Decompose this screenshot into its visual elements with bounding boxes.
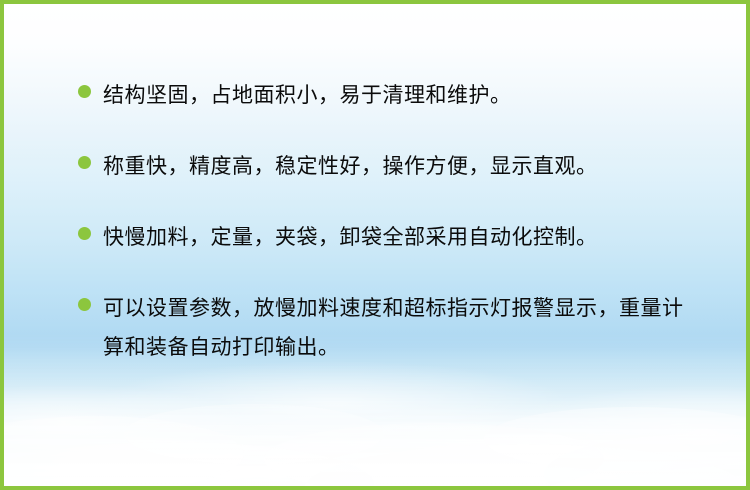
list-item: 可以设置参数，放慢加料速度和超标指示灯报警显示，重量计算和装备自动打印输出。 — [78, 289, 718, 367]
bullet-dot-icon — [78, 298, 91, 311]
slide-container: 结构坚固，占地面积小，易于清理和维护。 称重快，精度高，稳定性好，操作方便，显示… — [0, 0, 750, 490]
bullet-dot-icon — [78, 156, 91, 169]
list-item: 称重快，精度高，稳定性好，操作方便，显示直观。 — [78, 147, 718, 186]
bullet-dot-icon — [78, 227, 91, 240]
bullet-text: 称重快，精度高，稳定性好，操作方便，显示直观。 — [103, 147, 598, 186]
list-item: 快慢加料，定量，夹袋，卸袋全部采用自动化控制。 — [78, 218, 718, 257]
slide-content: 结构坚固，占地面积小，易于清理和维护。 称重快，精度高，稳定性好，操作方便，显示… — [4, 4, 750, 490]
bullet-list: 结构坚固，占地面积小，易于清理和维护。 称重快，精度高，稳定性好，操作方便，显示… — [78, 76, 718, 367]
bullet-text: 可以设置参数，放慢加料速度和超标指示灯报警显示，重量计算和装备自动打印输出。 — [103, 289, 703, 367]
list-item: 结构坚固，占地面积小，易于清理和维护。 — [78, 76, 718, 115]
bullet-text: 结构坚固，占地面积小，易于清理和维护。 — [103, 76, 512, 115]
bullet-text: 快慢加料，定量，夹袋，卸袋全部采用自动化控制。 — [103, 218, 598, 257]
bullet-dot-icon — [78, 85, 91, 98]
